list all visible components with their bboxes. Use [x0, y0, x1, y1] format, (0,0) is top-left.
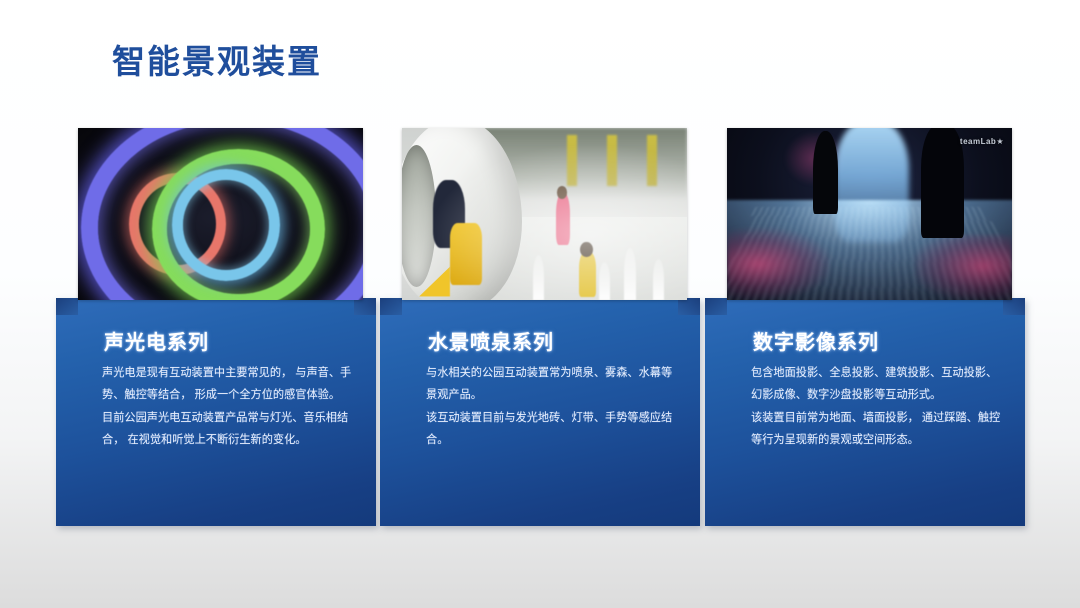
card-heading-3: 数字影像系列 — [753, 326, 879, 355]
card-heading-1: 声光电系列 — [104, 326, 209, 355]
ribbon-fold-left — [705, 298, 727, 315]
silhouette-visitor-right — [921, 128, 964, 238]
teamlab-watermark: teamLab★ — [960, 137, 1004, 146]
card-body-3: 包含地面投影、全息投影、建筑投影、互动投影、幻影成像、数字沙盘投影等互动形式。 … — [751, 362, 1003, 452]
card-panel-1: 声光电系列 声光电是现有互动装置中主要常见的， 与声音、手势、触控等结合， 形成… — [56, 298, 376, 526]
ribbon-fold-right — [1003, 298, 1025, 315]
card-3-paragraph-2: 该装置目前常为地面、墙面投影， 通过踩踏、触控等行为呈现新的景观或空间形态。 — [751, 407, 1003, 452]
ribbon-fold-left — [56, 298, 78, 315]
projection-petals-right — [915, 235, 1012, 300]
card-body-2: 与水相关的公园互动装置常为喷泉、雾森、水幕等 景观产品。 该互动装置目前与发光地… — [426, 362, 678, 452]
card-sound-light[interactable]: 声光电系列 声光电是现有互动装置中主要常见的， 与声音、手势、触控等结合， 形成… — [56, 128, 376, 528]
card-3-paragraph-1: 包含地面投影、全息投影、建筑投影、互动投影、幻影成像、数字沙盘投影等互动形式。 — [751, 362, 1003, 407]
silhouette-visitor-left — [813, 131, 839, 214]
card-body-1: 声光电是现有互动装置中主要常见的， 与声音、手势、触控等结合， 形成一个全方位的… — [102, 362, 354, 452]
ribbon-fold-left — [380, 298, 402, 315]
card-water-fountain[interactable]: 水景喷泉系列 与水相关的公园互动装置常为喷泉、雾森、水幕等 景观产品。 该互动装… — [380, 128, 700, 528]
card-1-paragraph-2: 目前公园声光电互动装置产品常与灯光、音乐相结合， 在视觉和听觉上不断衍生新的变化… — [102, 407, 354, 452]
water-park-fountain-photo — [402, 128, 687, 300]
water-mist — [402, 128, 687, 300]
card-2-paragraph-1: 与水相关的公园互动装置常为喷泉、雾森、水幕等 景观产品。 — [426, 362, 678, 407]
digital-projection-waterfall-photo: teamLab★ — [727, 128, 1012, 300]
card-panel-3: 数字影像系列 包含地面投影、全息投影、建筑投影、互动投影、幻影成像、数字沙盘投影… — [705, 298, 1025, 526]
card-panel-2: 水景喷泉系列 与水相关的公园互动装置常为喷泉、雾森、水幕等 景观产品。 该互动装… — [380, 298, 700, 526]
card-2-paragraph-2: 该互动装置目前与发光地砖、灯带、手势等感应结合。 — [426, 407, 678, 452]
glowing-light-rings-photo — [78, 128, 363, 300]
cards-row: 声光电系列 声光电是现有互动装置中主要常见的， 与声音、手势、触控等结合， 形成… — [0, 0, 1080, 608]
projection-petals-left — [727, 228, 830, 300]
ribbon-fold-right — [354, 298, 376, 315]
card-digital-image[interactable]: teamLab★ 数字影像系列 包含地面投影、全息投影、建筑投影、互动投影、幻影… — [705, 128, 1025, 528]
ring-blue-icon — [172, 169, 280, 280]
ribbon-fold-right — [678, 298, 700, 315]
card-heading-2: 水景喷泉系列 — [428, 326, 554, 355]
card-1-paragraph-1: 声光电是现有互动装置中主要常见的， 与声音、手势、触控等结合， 形成一个全方位的… — [102, 362, 354, 407]
